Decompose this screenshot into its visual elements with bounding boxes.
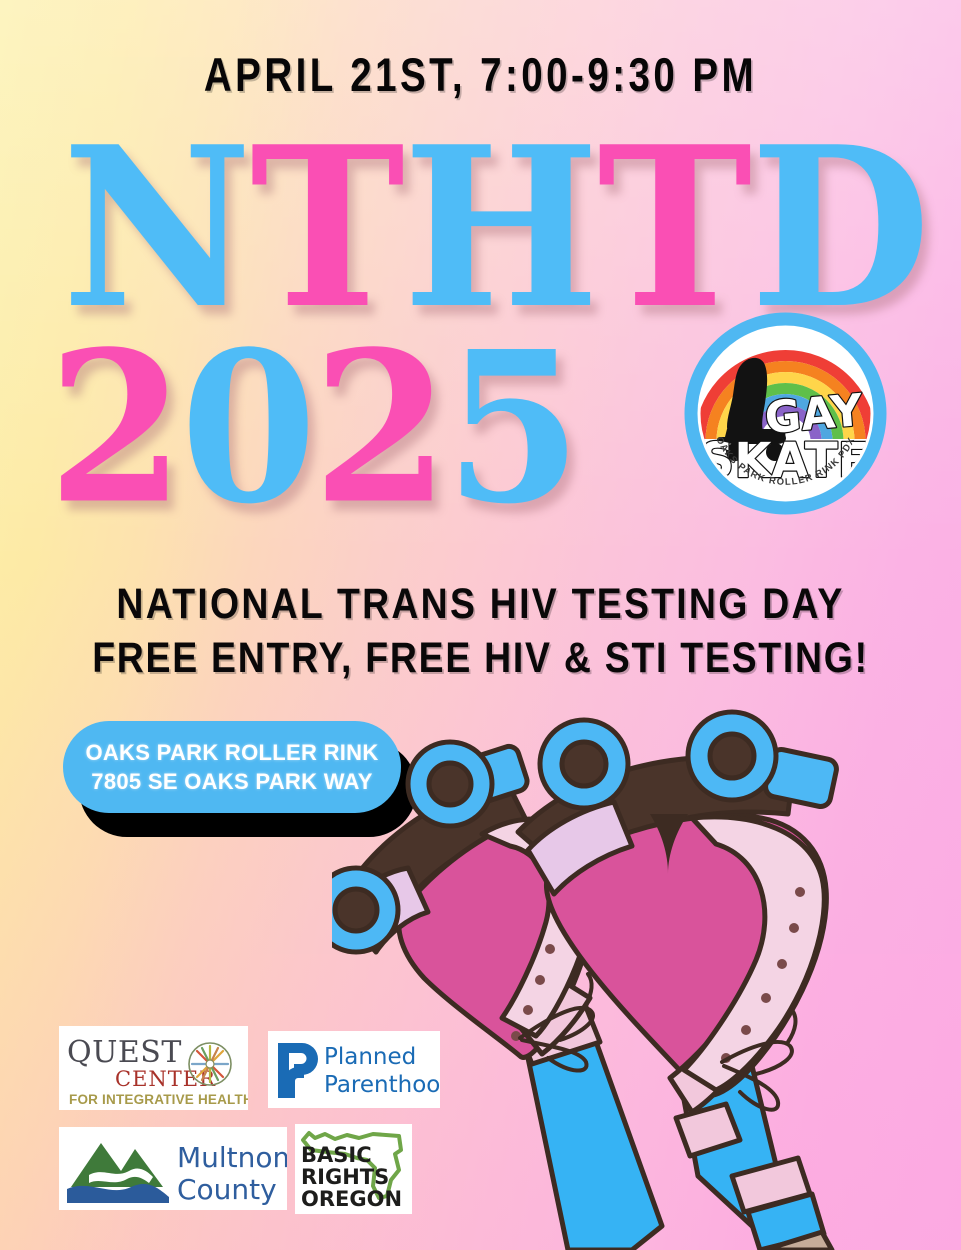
sponsor-logo-planned-parenthood: Planned Parenthood (268, 1031, 440, 1108)
venue-address: 7805 SE OAKS PARK WAY (91, 767, 372, 796)
quest-line2: CENTER (115, 1067, 216, 1091)
quest-line3: FOR INTEGRATIVE HEALTH (69, 1092, 248, 1107)
bro-line3: OREGON (301, 1187, 402, 1211)
tagline-national-trans-hiv-testing-day: NATIONAL TRANS HIV TESTING DAY (62, 580, 898, 629)
sponsor-logo-multnomah-county: Multnomah County (59, 1127, 287, 1210)
year-digit-0: 0 (180, 307, 312, 551)
sponsor-logo-basic-rights-oregon: BASIC RIGHTS OREGON (295, 1124, 412, 1214)
year-digit-2b: 2 (313, 307, 445, 551)
bro-line2: RIGHTS (301, 1165, 389, 1189)
year-digit-5: 5 (445, 307, 577, 551)
multnomah-line2: County (177, 1173, 277, 1206)
tagline-free-entry: FREE ENTRY, FREE HIV & STI TESTING! (62, 634, 898, 683)
bro-line1: BASIC (301, 1143, 372, 1167)
event-date-time: APRIL 21ST, 7:00-9:30 PM (86, 47, 874, 102)
sponsor-logo-quest-center: QUEST CENTER FOR INTEGRATIVE HEALTH (59, 1026, 248, 1110)
multnomah-line1: Multnomah (177, 1141, 287, 1174)
compass-star-icon (189, 1043, 231, 1085)
quest-line1: QUEST (67, 1035, 182, 1070)
pp-line1: Planned (324, 1044, 416, 1070)
acronym-nthtd: NTHTD (0, 128, 961, 331)
pp-line2: Parenthood (324, 1072, 440, 1098)
gay-skate-logo: GAY SKATE OAKS PARK ROLLER RINK PDX (683, 311, 888, 516)
year-digit-2a: 2 (48, 307, 180, 551)
event-poster: APRIL 21ST, 7:00-9:30 PM NTHTD 2025 (0, 0, 961, 1250)
roller-skates-illustration (332, 706, 961, 1250)
